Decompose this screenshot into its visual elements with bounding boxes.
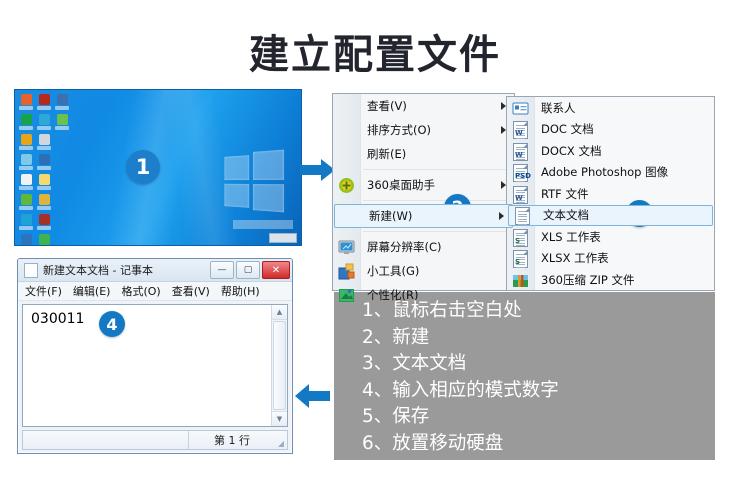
notepad-file-icon <box>24 263 38 278</box>
word-doc-icon: W <box>512 121 529 138</box>
submenu-item-9[interactable]: 360压缩 ZIP 文件 <box>507 269 714 291</box>
submenu-item-2[interactable]: WDOC 文档 <box>507 119 714 141</box>
maximize-button[interactable]: ▢ <box>236 261 260 279</box>
step-badge-4: 4 <box>99 311 125 337</box>
context-menu-separator <box>363 200 512 201</box>
step-badge-1: 1 <box>126 150 160 184</box>
submenu-item-label: XLS 工作表 <box>541 229 601 245</box>
context-menu-item-2[interactable]: 排序方式(O) <box>333 118 514 142</box>
context-menu-item-label: 小工具(G) <box>367 263 419 279</box>
360-shield-icon <box>338 177 355 194</box>
submenu-item-label: DOCX 文档 <box>541 143 601 159</box>
submenu-item-label: 360压缩 ZIP 文件 <box>541 272 634 288</box>
submenu-item-3[interactable]: WDOCX 文档 <box>507 140 714 162</box>
notepad-menu-4[interactable]: 查看(V) <box>172 283 210 299</box>
context-menu-item-label: 个性化(R) <box>367 287 418 303</box>
rtf-doc-icon: W <box>512 186 529 203</box>
taskbar-tray <box>269 233 297 243</box>
notepad-menu-3[interactable]: 格式(O) <box>121 283 160 299</box>
desktop-context-menu[interactable]: 查看(V)排序方式(O)刷新(E)360桌面助手新建(W)屏幕分辨率(C)小工具… <box>332 93 515 291</box>
notepad-menu-bar[interactable]: 文件(F)编辑(E)格式(O)查看(V)帮助(H) <box>18 282 292 301</box>
context-menu-item-1[interactable]: 查看(V) <box>333 94 514 118</box>
submenu-item-5[interactable]: WRTF 文件 <box>507 183 714 205</box>
context-menu-item-3[interactable]: 刷新(E) <box>333 142 514 166</box>
desktop-watermark <box>233 220 293 229</box>
submenu-item-8[interactable]: SXLSX 工作表 <box>507 248 714 270</box>
instruction-step-4: 4、输入相应的模式数字 <box>362 378 715 405</box>
context-menu-separator <box>363 169 512 170</box>
submenu-item-1[interactable]: 联系人 <box>507 97 714 119</box>
context-menu-item-6[interactable]: 屏幕分辨率(C) <box>333 235 514 259</box>
notepad-text-area[interactable]: 030011 ▲ ▼ <box>22 304 288 427</box>
notepad-window[interactable]: 新建文本文档 - 记事本 — ▢ ✕ 文件(F)编辑(E)格式(O)查看(V)帮… <box>17 258 293 454</box>
context-menu-item-label: 查看(V) <box>367 98 407 114</box>
desktop-icon-grid <box>19 94 73 246</box>
submenu-item-label: 联系人 <box>541 100 576 116</box>
notepad-menu-1[interactable]: 文件(F) <box>25 283 62 299</box>
360zip-icon <box>512 272 529 289</box>
context-menu-item-4[interactable]: 360桌面助手 <box>333 173 514 197</box>
context-menu-item-label: 360桌面助手 <box>367 177 435 193</box>
arrow-right-icon <box>300 158 336 182</box>
context-menu-item-label: 排序方式(O) <box>367 122 431 138</box>
submenu-item-6[interactable]: 文本文档 <box>508 205 713 227</box>
windows-logo-icon <box>224 150 284 213</box>
submenu-item-label: XLSX 工作表 <box>541 250 609 266</box>
instruction-steps-panel: 1、鼠标右击空白处2、新建3、文本文档4、输入相应的模式数字5、保存6、放置移动… <box>334 292 715 460</box>
submenu-item-7[interactable]: SXLS 工作表 <box>507 226 714 248</box>
gadgets-icon <box>338 263 355 280</box>
context-menu-item-7[interactable]: 小工具(G) <box>333 259 514 283</box>
context-menu-item-label: 屏幕分辨率(C) <box>367 239 442 255</box>
context-menu-item-5[interactable]: 新建(W) <box>334 204 513 228</box>
notepad-window-title: 新建文本文档 - 记事本 <box>43 262 153 278</box>
notepad-title-bar: 新建文本文档 - 记事本 — ▢ ✕ <box>18 259 292 282</box>
arrow-left-icon <box>294 383 330 409</box>
window-controls[interactable]: — ▢ ✕ <box>210 261 290 279</box>
instruction-step-3: 3、文本文档 <box>362 351 715 378</box>
word-docx-icon: W <box>512 143 529 160</box>
photoshop-psd-icon: PSD <box>512 164 529 181</box>
new-submenu[interactable]: 联系人WDOC 文档WDOCX 文档PSDAdobe Photoshop 图像W… <box>506 96 715 291</box>
resize-grip-icon[interactable]: ◢ <box>275 430 287 450</box>
personalize-icon <box>338 287 355 304</box>
status-line-number: 第 1 行 <box>188 431 275 449</box>
instruction-step-6: 6、放置移动硬盘 <box>362 431 715 458</box>
submenu-item-label: 文本文档 <box>543 207 589 223</box>
submenu-arrow-icon <box>501 126 506 134</box>
scroll-down-icon[interactable]: ▼ <box>272 411 287 426</box>
context-menu-separator <box>363 231 512 232</box>
instruction-step-5: 5、保存 <box>362 404 715 431</box>
notepad-content: 030011 <box>23 305 287 327</box>
vertical-scrollbar[interactable]: ▲ ▼ <box>271 305 287 426</box>
scrollbar-thumb[interactable] <box>273 321 286 410</box>
scroll-up-icon[interactable]: ▲ <box>272 305 287 320</box>
submenu-item-label: Adobe Photoshop 图像 <box>541 164 668 180</box>
contact-card-icon <box>512 100 529 117</box>
page-title: 建立配置文件 <box>0 22 750 80</box>
text-document-icon <box>514 207 531 224</box>
notepad-menu-2[interactable]: 编辑(E) <box>73 283 111 299</box>
submenu-item-label: RTF 文件 <box>541 186 588 202</box>
submenu-item-label: DOC 文档 <box>541 121 594 137</box>
submenu-arrow-icon <box>499 212 504 220</box>
minimize-button[interactable]: — <box>210 261 234 279</box>
context-menu-item-8[interactable]: 个性化(R) <box>333 283 514 307</box>
context-menu-item-label: 新建(W) <box>369 208 412 224</box>
notepad-menu-5[interactable]: 帮助(H) <box>221 283 260 299</box>
submenu-item-4[interactable]: PSDAdobe Photoshop 图像 <box>507 162 714 184</box>
submenu-arrow-icon <box>501 181 506 189</box>
excel-xlsx-icon: S <box>512 250 529 267</box>
instruction-step-2: 2、新建 <box>362 325 715 352</box>
notepad-status-bar: 第 1 行 ◢ <box>22 430 288 450</box>
close-button[interactable]: ✕ <box>262 261 290 279</box>
excel-xls-icon: S <box>512 229 529 246</box>
submenu-arrow-icon <box>501 102 506 110</box>
context-menu-item-label: 刷新(E) <box>367 146 406 162</box>
monitor-icon <box>338 239 355 256</box>
